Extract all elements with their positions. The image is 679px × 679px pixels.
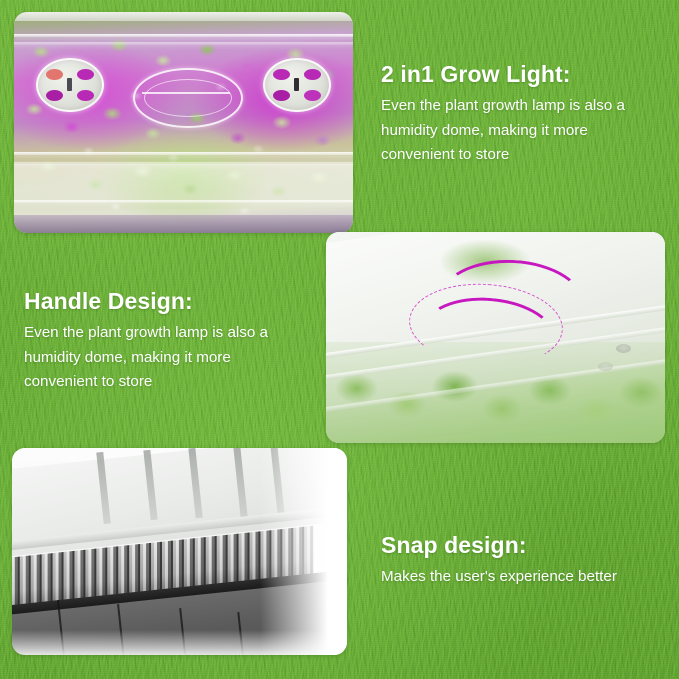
photo-fade-right [260, 448, 347, 655]
feature-text-snap: Snap design: Makes the user's experience… [381, 533, 657, 590]
feature-title-grow-light: 2 in1 Grow Light: [381, 62, 653, 87]
vent-hole [273, 90, 290, 101]
vent-hole [77, 90, 94, 101]
dome-rib [14, 200, 353, 203]
vent-hole [273, 69, 290, 80]
dome-top-edge [14, 12, 353, 21]
vent-hole [77, 69, 94, 80]
feature-text-grow-light: 2 in1 Grow Light: Even the plant growth … [381, 62, 653, 168]
dome-rib [14, 152, 353, 155]
dome-vent-hole [598, 362, 613, 371]
feature-body-handle: Even the plant growth lamp is also a hum… [24, 321, 302, 395]
dome-handle-bar [142, 92, 230, 94]
vent-hole [46, 90, 63, 101]
vent-hole [304, 90, 321, 101]
dome-handle-loop [133, 68, 243, 128]
tray-base-edge [14, 215, 353, 233]
feature-title-handle: Handle Design: [24, 289, 302, 314]
feature-body-grow-light: Even the plant growth lamp is also a hum… [381, 94, 653, 168]
dome-rib [14, 42, 353, 45]
photo-grow-light [14, 12, 353, 233]
feature-text-handle: Handle Design: Even the plant growth lam… [24, 289, 302, 395]
photo-snap-tray [12, 448, 347, 655]
photo-handle-closeup [326, 232, 665, 443]
dome-rib [14, 34, 353, 37]
photo-fade-bottom [12, 630, 347, 655]
vent-knob-left [36, 58, 104, 112]
vent-switch [67, 78, 72, 91]
vent-knob-right [263, 58, 331, 112]
vent-switch [294, 78, 299, 91]
vent-hole [46, 69, 63, 80]
dome-front-panel [14, 164, 353, 202]
feature-body-snap: Makes the user's experience better [381, 565, 657, 590]
vent-hole [304, 69, 321, 80]
feature-title-snap: Snap design: [381, 533, 657, 558]
product-infographic: 2 in1 Grow Light: Even the plant growth … [0, 0, 679, 679]
dome-vent-hole [616, 344, 631, 353]
